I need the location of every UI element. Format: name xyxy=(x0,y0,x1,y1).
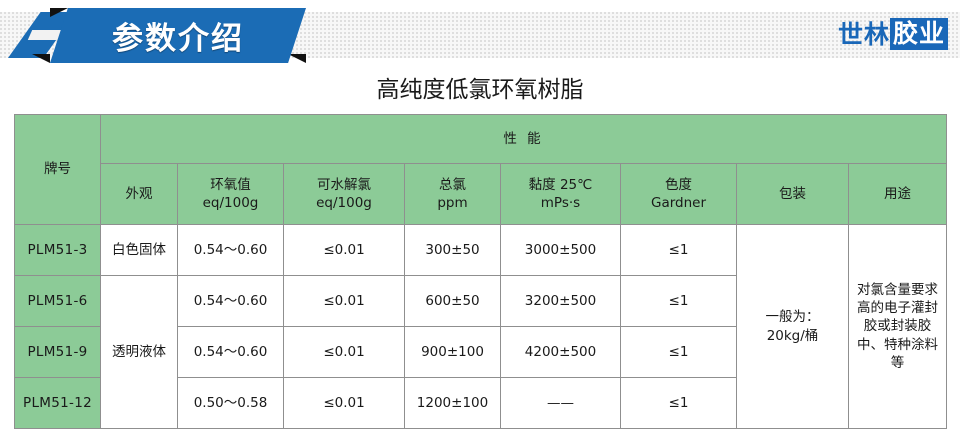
table-header-row-columns: 外观 环氧值 eq/100g 可水解氯 eq/100g 总氯 ppm 黏度 25… xyxy=(15,164,947,225)
cell-epoxy-value: 0.54～0.60 xyxy=(178,276,284,327)
header-cell-total-chlorine-line1: 总氯 xyxy=(408,176,497,194)
header-cell-epoxy-value-line2: eq/100g xyxy=(181,194,280,212)
spec-table-wrapper: 牌号 性 能 外观 环氧值 eq/100g 可水解氯 eq/100g 总氯 xyxy=(14,114,946,429)
header-cell-total-chlorine-line2: ppm xyxy=(408,194,497,212)
cell-color-gardner: ≤1 xyxy=(621,327,737,378)
brand-logo: 世林胶业 xyxy=(838,18,948,50)
table-header-row-group: 牌号 性 能 xyxy=(15,115,947,164)
header-cell-color-gardner-line1: 色度 xyxy=(624,176,733,194)
header-cell-hydrolyzable-chlorine-line2: eq/100g xyxy=(287,194,401,212)
cell-color-gardner: ≤1 xyxy=(621,378,737,429)
cell-total-chlorine: 300±50 xyxy=(405,225,501,276)
header-cell-viscosity-line2: mPs·s xyxy=(504,194,617,212)
cell-appearance: 白色固体 xyxy=(101,225,178,276)
header-cell-viscosity: 黏度 25℃ mPs·s xyxy=(501,164,621,225)
brand-logo-secondary: 胶业 xyxy=(890,18,948,50)
header-cell-total-chlorine: 总氯 ppm xyxy=(405,164,501,225)
header-cell-epoxy-value-line1: 环氧值 xyxy=(181,176,280,194)
cell-model: PLM51-9 xyxy=(15,327,101,378)
cell-packaging: 一般为： 20kg/桶 xyxy=(737,225,849,429)
header-cell-packaging: 包装 xyxy=(737,164,849,225)
cell-packaging-line2: 20kg/桶 xyxy=(740,327,845,345)
page-header: 参数介绍 世林胶业 xyxy=(0,0,960,70)
header-cell-viscosity-line1: 黏度 25℃ xyxy=(504,176,617,194)
header-cell-brand: 牌号 xyxy=(15,115,101,225)
cell-hydrolyzable-chlorine: ≤0.01 xyxy=(284,327,405,378)
cell-color-gardner: ≤1 xyxy=(621,276,737,327)
cell-appearance: 透明液体 xyxy=(101,276,178,429)
cell-hydrolyzable-chlorine: ≤0.01 xyxy=(284,276,405,327)
header-cell-hydrolyzable-chlorine-line1: 可水解氯 xyxy=(287,176,401,194)
header-cell-color-gardner-line2: Gardner xyxy=(624,194,733,212)
cell-viscosity: 3000±500 xyxy=(501,225,621,276)
brand-logo-primary: 世林 xyxy=(838,19,890,50)
banner-title: 参数介绍 xyxy=(50,8,306,63)
cell-model: PLM51-3 xyxy=(15,225,101,276)
cell-epoxy-value: 0.54～0.60 xyxy=(178,327,284,378)
cell-hydrolyzable-chlorine: ≤0.01 xyxy=(284,225,405,276)
header-cell-epoxy-value: 环氧值 eq/100g xyxy=(178,164,284,225)
header-cell-usage: 用途 xyxy=(849,164,947,225)
cell-viscosity: 3200±500 xyxy=(501,276,621,327)
cell-model: PLM51-12 xyxy=(15,378,101,429)
cell-total-chlorine: 600±50 xyxy=(405,276,501,327)
header-cell-color-gardner: 色度 Gardner xyxy=(621,164,737,225)
banner-fold-bottom-left-icon xyxy=(32,54,50,63)
header-cell-performance-group: 性 能 xyxy=(101,115,947,164)
page-title: 高纯度低氯环氧树脂 xyxy=(0,70,960,104)
header-cell-hydrolyzable-chlorine: 可水解氯 eq/100g xyxy=(284,164,405,225)
cell-total-chlorine: 1200±100 xyxy=(405,378,501,429)
cell-model: PLM51-6 xyxy=(15,276,101,327)
cell-total-chlorine: 900±100 xyxy=(405,327,501,378)
table-row: PLM51-3 白色固体 0.54～0.60 ≤0.01 300±50 3000… xyxy=(15,225,947,276)
header-cell-appearance: 外观 xyxy=(101,164,178,225)
cell-color-gardner: ≤1 xyxy=(621,225,737,276)
cell-hydrolyzable-chlorine: ≤0.01 xyxy=(284,378,405,429)
cell-viscosity: —— xyxy=(501,378,621,429)
cell-epoxy-value: 0.50～0.58 xyxy=(178,378,284,429)
spec-table: 牌号 性 能 外观 环氧值 eq/100g 可水解氯 eq/100g 总氯 xyxy=(14,114,947,429)
cell-packaging-line1: 一般为： xyxy=(740,308,845,326)
header-cell-appearance-line1: 外观 xyxy=(104,185,174,203)
cell-viscosity: 4200±500 xyxy=(501,327,621,378)
cell-usage: 对氯含量要求高的电子灌封胶或封装胶中、特种涂料等 xyxy=(849,225,947,429)
section-banner: 参数介绍 xyxy=(0,0,340,70)
cell-epoxy-value: 0.54～0.60 xyxy=(178,225,284,276)
